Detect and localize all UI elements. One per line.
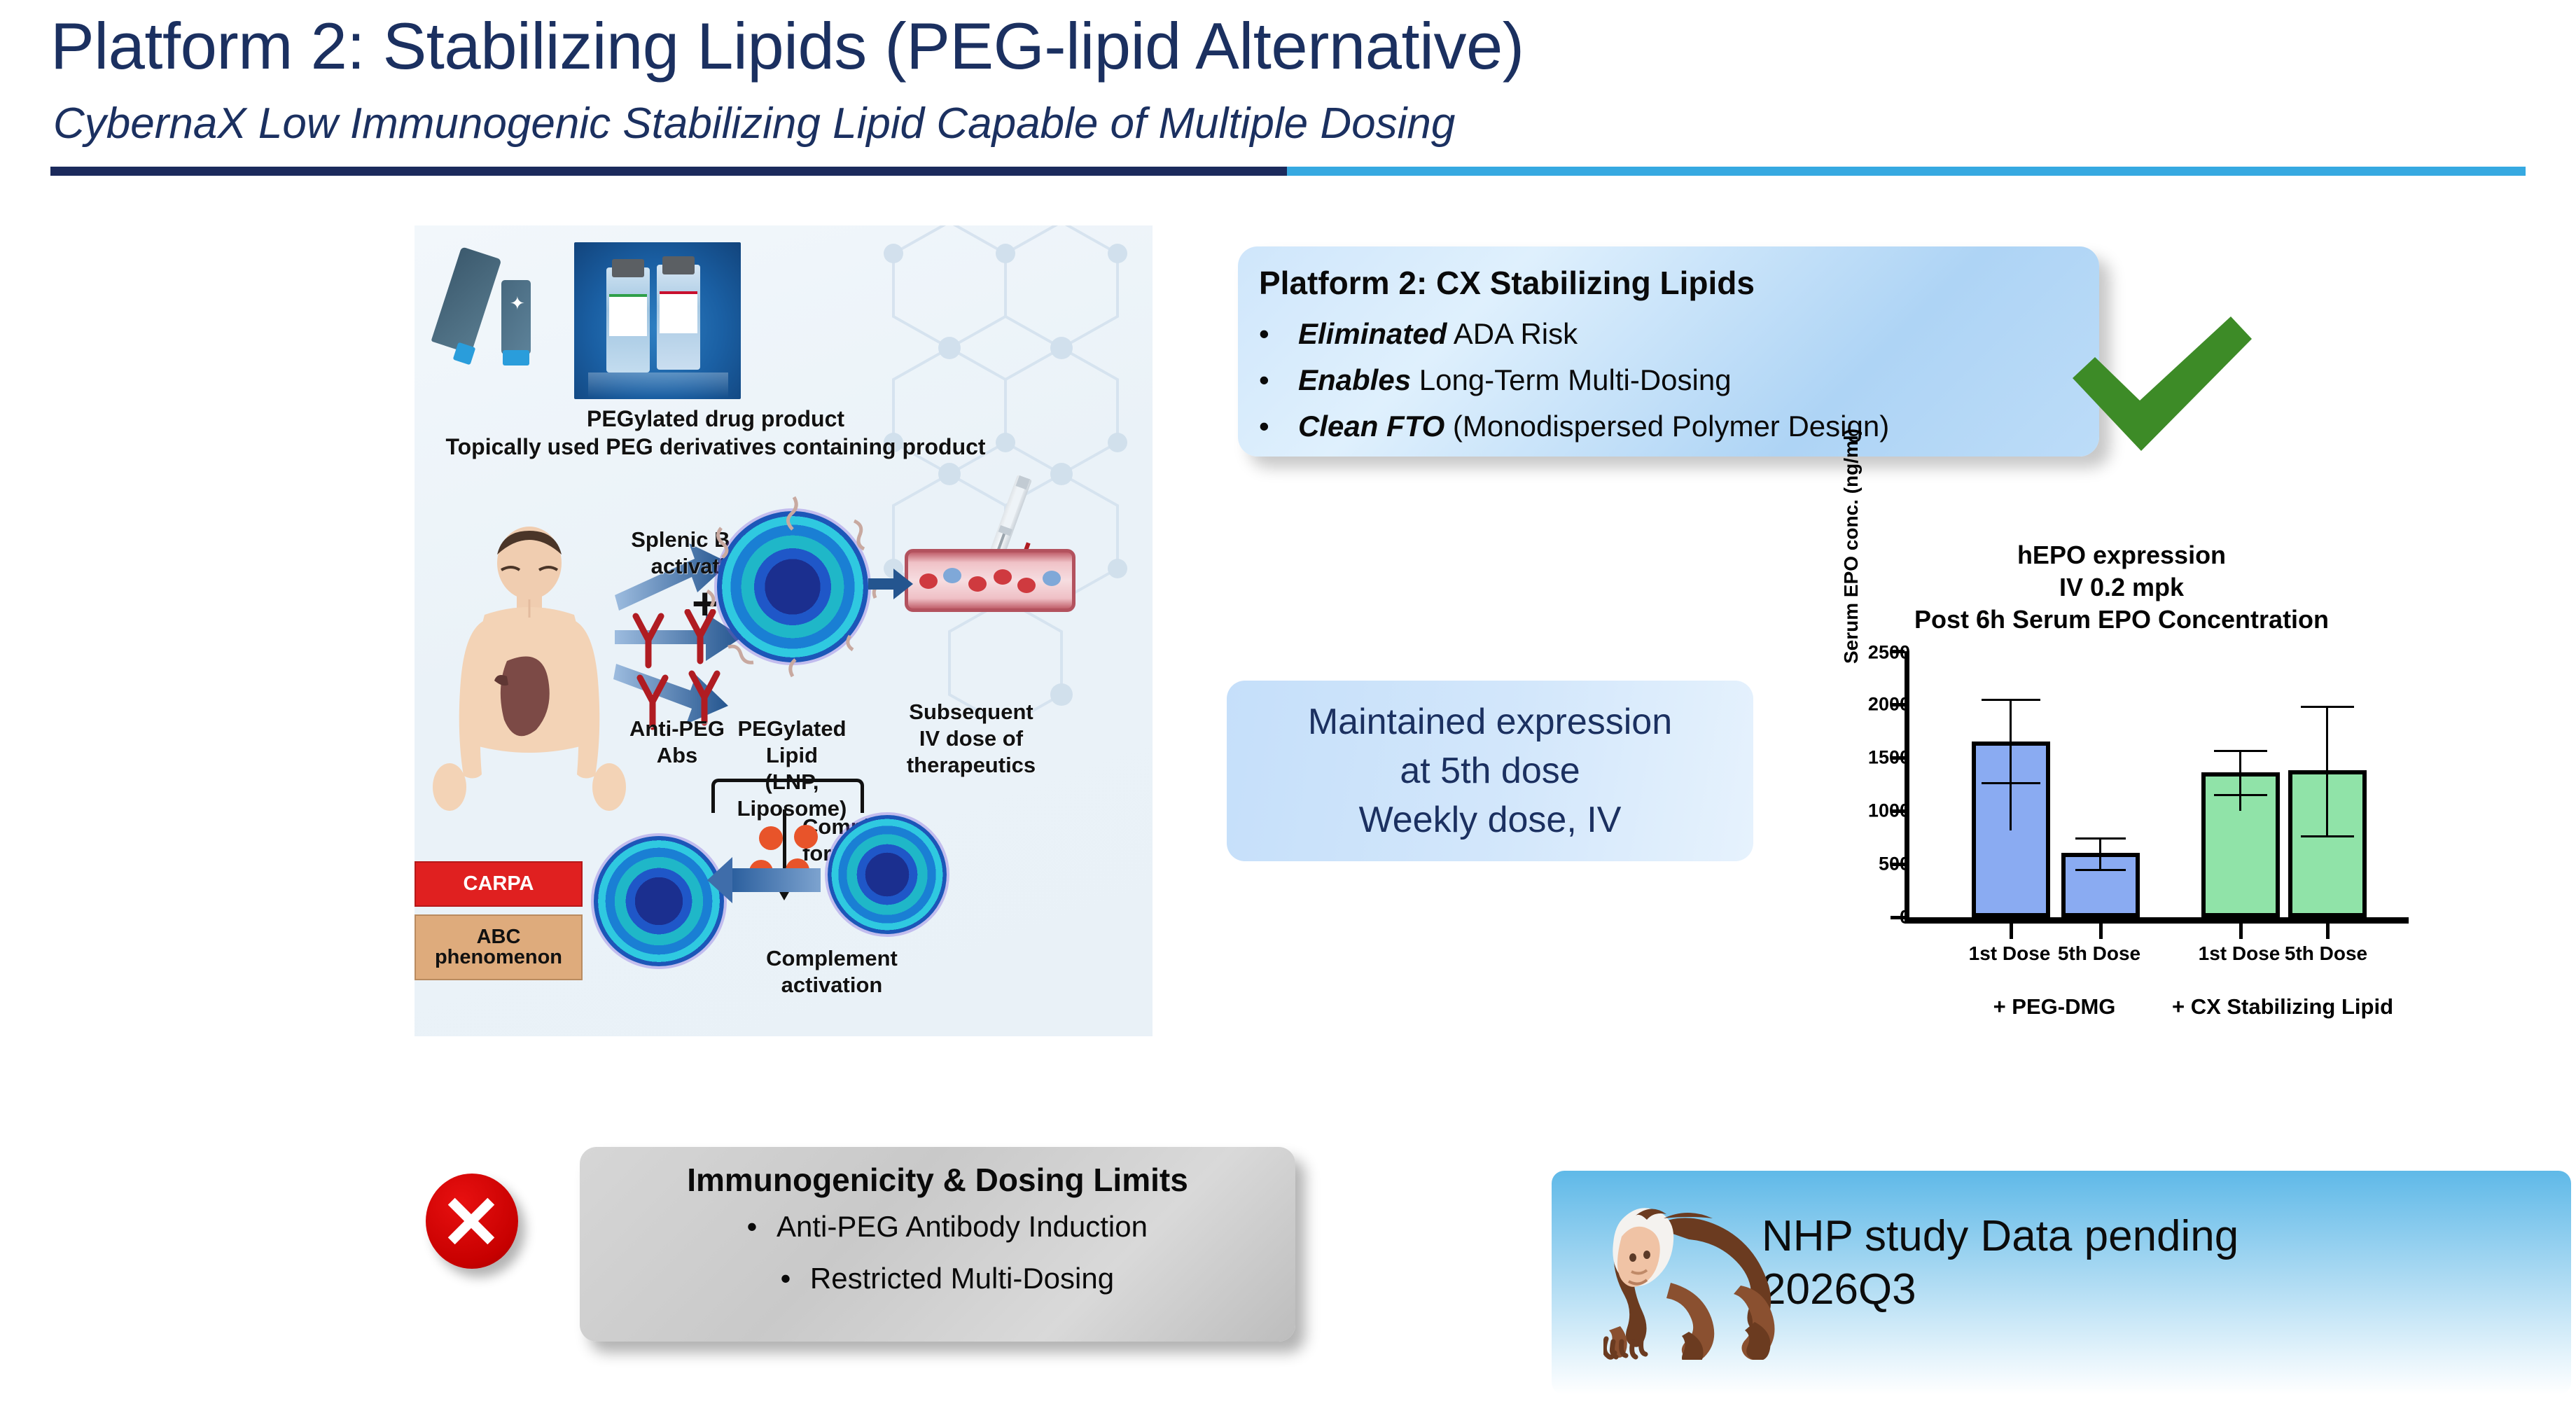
- chart-title-line3: Post 6h Serum EPO Concentration: [1806, 604, 2437, 636]
- complement-activation-arrow-icon: [731, 868, 821, 892]
- chart-errorcap-lower-cx-5th: [2301, 835, 2354, 837]
- vaccine-vials-photo: [574, 242, 741, 399]
- complex-formation-brace: [711, 779, 864, 813]
- chart-title: hEPO expression IV 0.2 mpk Post 6h Serum…: [1806, 539, 2437, 636]
- chart-errorcap-upper-cx-1st: [2214, 750, 2267, 752]
- sparkle-icon: ✦: [510, 294, 525, 312]
- maintained-expression-box: Maintained expression at 5th dose Weekly…: [1227, 681, 1753, 861]
- chart-x-ticklabel-3: 5th Dose: [2285, 942, 2367, 965]
- header-rule-dark: [50, 167, 1287, 176]
- chart-x-ticklabel-1: 5th Dose: [2058, 942, 2140, 965]
- nhp-study-text: NHP study Data pending 2026Q3: [1762, 1210, 2532, 1316]
- vaccine-vial-1-cap: [612, 259, 644, 277]
- platform2-bullet-1: •Enables Long-Term Multi-Dosing: [1259, 357, 1889, 403]
- chart-group-label-peg-dmg: + PEG-DMG: [1993, 994, 2116, 1019]
- pegylated-drug-caption-line1: PEGylated drug product: [415, 405, 1017, 433]
- bullet-strong-1: Enables: [1298, 363, 1411, 396]
- platform2-bullet-0: •Eliminated ADA Risk: [1259, 311, 1889, 357]
- nhp-line1: NHP study Data pending: [1762, 1210, 2532, 1263]
- platform2-bullet-list: •Eliminated ADA Risk •Enables Long-Term …: [1259, 311, 1889, 450]
- complexed-lnp-right-icon: [828, 815, 947, 934]
- chart-y-ticklabel-2000: 2000: [1868, 694, 1910, 716]
- chart-title-line2: IV 0.2 mpk: [1806, 571, 2437, 604]
- chart-x-ticklabel-2: 1st Dose: [2199, 942, 2281, 965]
- chart-errorcap-lower-peg-5th: [2075, 869, 2126, 871]
- chart-errorbar-peg-1st: [2010, 699, 2012, 830]
- subsequent-line2: IV dose of: [884, 725, 1059, 752]
- pegylated-drug-caption: PEGylated drug product Topically used PE…: [415, 405, 1017, 461]
- platform2-heading: Platform 2: CX Stabilizing Lipids: [1259, 265, 1755, 301]
- bullet-strong-0: Eliminated: [1298, 317, 1447, 350]
- mechanism-diagram-panel: ✦ PEGylated drug product Topically used …: [415, 225, 1153, 1036]
- chart-title-line1: hEPO expression: [1806, 539, 2437, 571]
- pegylated-lipid-line2: Lipid: [707, 742, 877, 769]
- ointment-tube-small-icon: [501, 280, 531, 354]
- vial-reflection: [588, 373, 728, 398]
- chart-x-axis: [1905, 917, 2409, 924]
- immunogenicity-bullet-1: •Restricted Multi-Dosing: [580, 1260, 1295, 1297]
- platform2-info-box: Platform 2: CX Stabilizing Lipids •Elimi…: [1238, 246, 2099, 457]
- slide-root: Platform 2: Stabilizing Lipids (PEG-lipi…: [0, 0, 2576, 1413]
- ointment-tube-small-cap-icon: [503, 350, 529, 366]
- chart-errorcap-lower-cx-1st: [2214, 794, 2267, 796]
- check-icon: [2068, 314, 2257, 454]
- header-rule-light: [1287, 167, 2526, 176]
- complement-line2: activation: [741, 972, 923, 998]
- nhp-line2: 2026Q3: [1762, 1263, 2532, 1316]
- chart-x-tick-3: [2326, 924, 2330, 939]
- chart-x-tick-2: [2239, 924, 2243, 939]
- ointment-tube-large-icon: [431, 246, 502, 354]
- bullet-rest-2: (Monodispersed Polymer Design): [1444, 410, 1889, 443]
- bullet-rest-0: ADA Risk: [1447, 317, 1578, 350]
- bullet-marker: •: [761, 1260, 810, 1297]
- complement-protein-dot: [794, 825, 818, 849]
- pegylated-drug-caption-line2: Topically used PEG derivatives containin…: [415, 433, 1017, 461]
- immunogenicity-box: Immunogenicity & Dosing Limits •Anti-PEG…: [580, 1147, 1295, 1342]
- chart-y-axis: [1905, 651, 1909, 917]
- complement-protein-dot: [759, 826, 783, 850]
- bullet-marker: •: [1259, 403, 1298, 450]
- chart-errorcap-upper-peg-1st: [1982, 699, 2040, 701]
- bullet-marker: •: [727, 1209, 777, 1245]
- human-body-icon: [424, 527, 634, 821]
- vaccine-vial-1-label: [609, 294, 647, 336]
- immunogenicity-bullet-0: •Anti-PEG Antibody Induction: [580, 1209, 1295, 1245]
- chart-y-ticklabel-1500: 1500: [1868, 747, 1910, 769]
- vaccine-vial-2-cap: [662, 256, 695, 274]
- immunogenicity-bullet-text-0: Anti-PEG Antibody Induction: [777, 1210, 1148, 1243]
- immunogenicity-bullet-text-1: Restricted Multi-Dosing: [810, 1262, 1114, 1295]
- complexed-lnp-left-icon: [594, 836, 724, 966]
- bullet-marker: •: [1259, 357, 1298, 403]
- platform2-bullet-2: •Clean FTO (Monodispersed Polymer Design…: [1259, 403, 1889, 450]
- complement-activation-label: Complement activation: [741, 945, 923, 998]
- chart-plot-area: Serum EPO conc. (ng/ml) 0 500 1000 1500 …: [1905, 651, 2409, 917]
- maintained-line1: Maintained expression: [1308, 702, 1672, 742]
- abc-phenomenon-tag: ABC phenomenon: [415, 914, 583, 980]
- pegylated-lipid-line1: PEGylated: [707, 716, 877, 742]
- chart-y-ticklabel-0: 0: [1900, 907, 1910, 928]
- chart-x-tick-0: [2010, 924, 2013, 939]
- monkey-icon: [1603, 1199, 1813, 1360]
- x-icon: [426, 1174, 518, 1269]
- maintained-line2: at 5th dose: [1400, 751, 1580, 791]
- chart-y-ticklabel-2500: 2500: [1868, 642, 1910, 664]
- chart-group-label-cx: + CX Stabilizing Lipid: [2172, 994, 2393, 1019]
- immunogenicity-heading: Immunogenicity & Dosing Limits: [580, 1161, 1295, 1199]
- hepo-expression-chart: hEPO expression IV 0.2 mpk Post 6h Serum…: [1806, 539, 2437, 1120]
- chart-errorcap-upper-cx-5th: [2301, 706, 2354, 708]
- chart-y-axis-label: Serum EPO conc. (ng/ml): [1840, 427, 1863, 665]
- chart-x-ticklabel-0: 1st Dose: [1969, 942, 2051, 965]
- chart-errorcap-lower-peg-1st: [1982, 782, 2040, 784]
- bullet-marker: •: [1259, 311, 1298, 357]
- chart-y-ticklabel-1000: 1000: [1868, 800, 1910, 822]
- blood-vessel-icon: [905, 549, 1075, 612]
- chart-errorbar-peg-5th: [2099, 837, 2101, 869]
- bullet-rest-1: Long-Term Multi-Dosing: [1411, 363, 1732, 396]
- chart-errorbar-cx-1st: [2239, 750, 2241, 811]
- carpa-tag: CARPA: [415, 861, 583, 907]
- bullet-strong-2: Clean FTO: [1298, 410, 1444, 443]
- chart-errorcap-upper-peg-5th: [2075, 837, 2126, 840]
- maintained-line3: Weekly dose, IV: [1359, 800, 1622, 840]
- complement-line1: Complement: [741, 945, 923, 972]
- peg-chains-icon: [697, 492, 891, 685]
- iv-dose-arrow-icon: [868, 567, 913, 601]
- subsequent-line1: Subsequent: [884, 699, 1059, 725]
- subsequent-iv-label: Subsequent IV dose of therapeutics: [884, 699, 1059, 779]
- chart-y-ticklabel-500: 500: [1879, 854, 1910, 875]
- page-title: Platform 2: Stabilizing Lipids (PEG-lipi…: [50, 10, 1524, 83]
- vaccine-vial-2-label: [660, 291, 697, 333]
- maintained-expression-text: Maintained expression at 5th dose Weekly…: [1308, 697, 1672, 844]
- subsequent-line3: therapeutics: [884, 752, 1059, 779]
- chart-errorbar-cx-5th: [2326, 706, 2328, 835]
- page-subtitle: CybernaX Low Immunogenic Stabilizing Lip…: [53, 99, 1455, 148]
- chart-x-tick-1: [2099, 924, 2103, 939]
